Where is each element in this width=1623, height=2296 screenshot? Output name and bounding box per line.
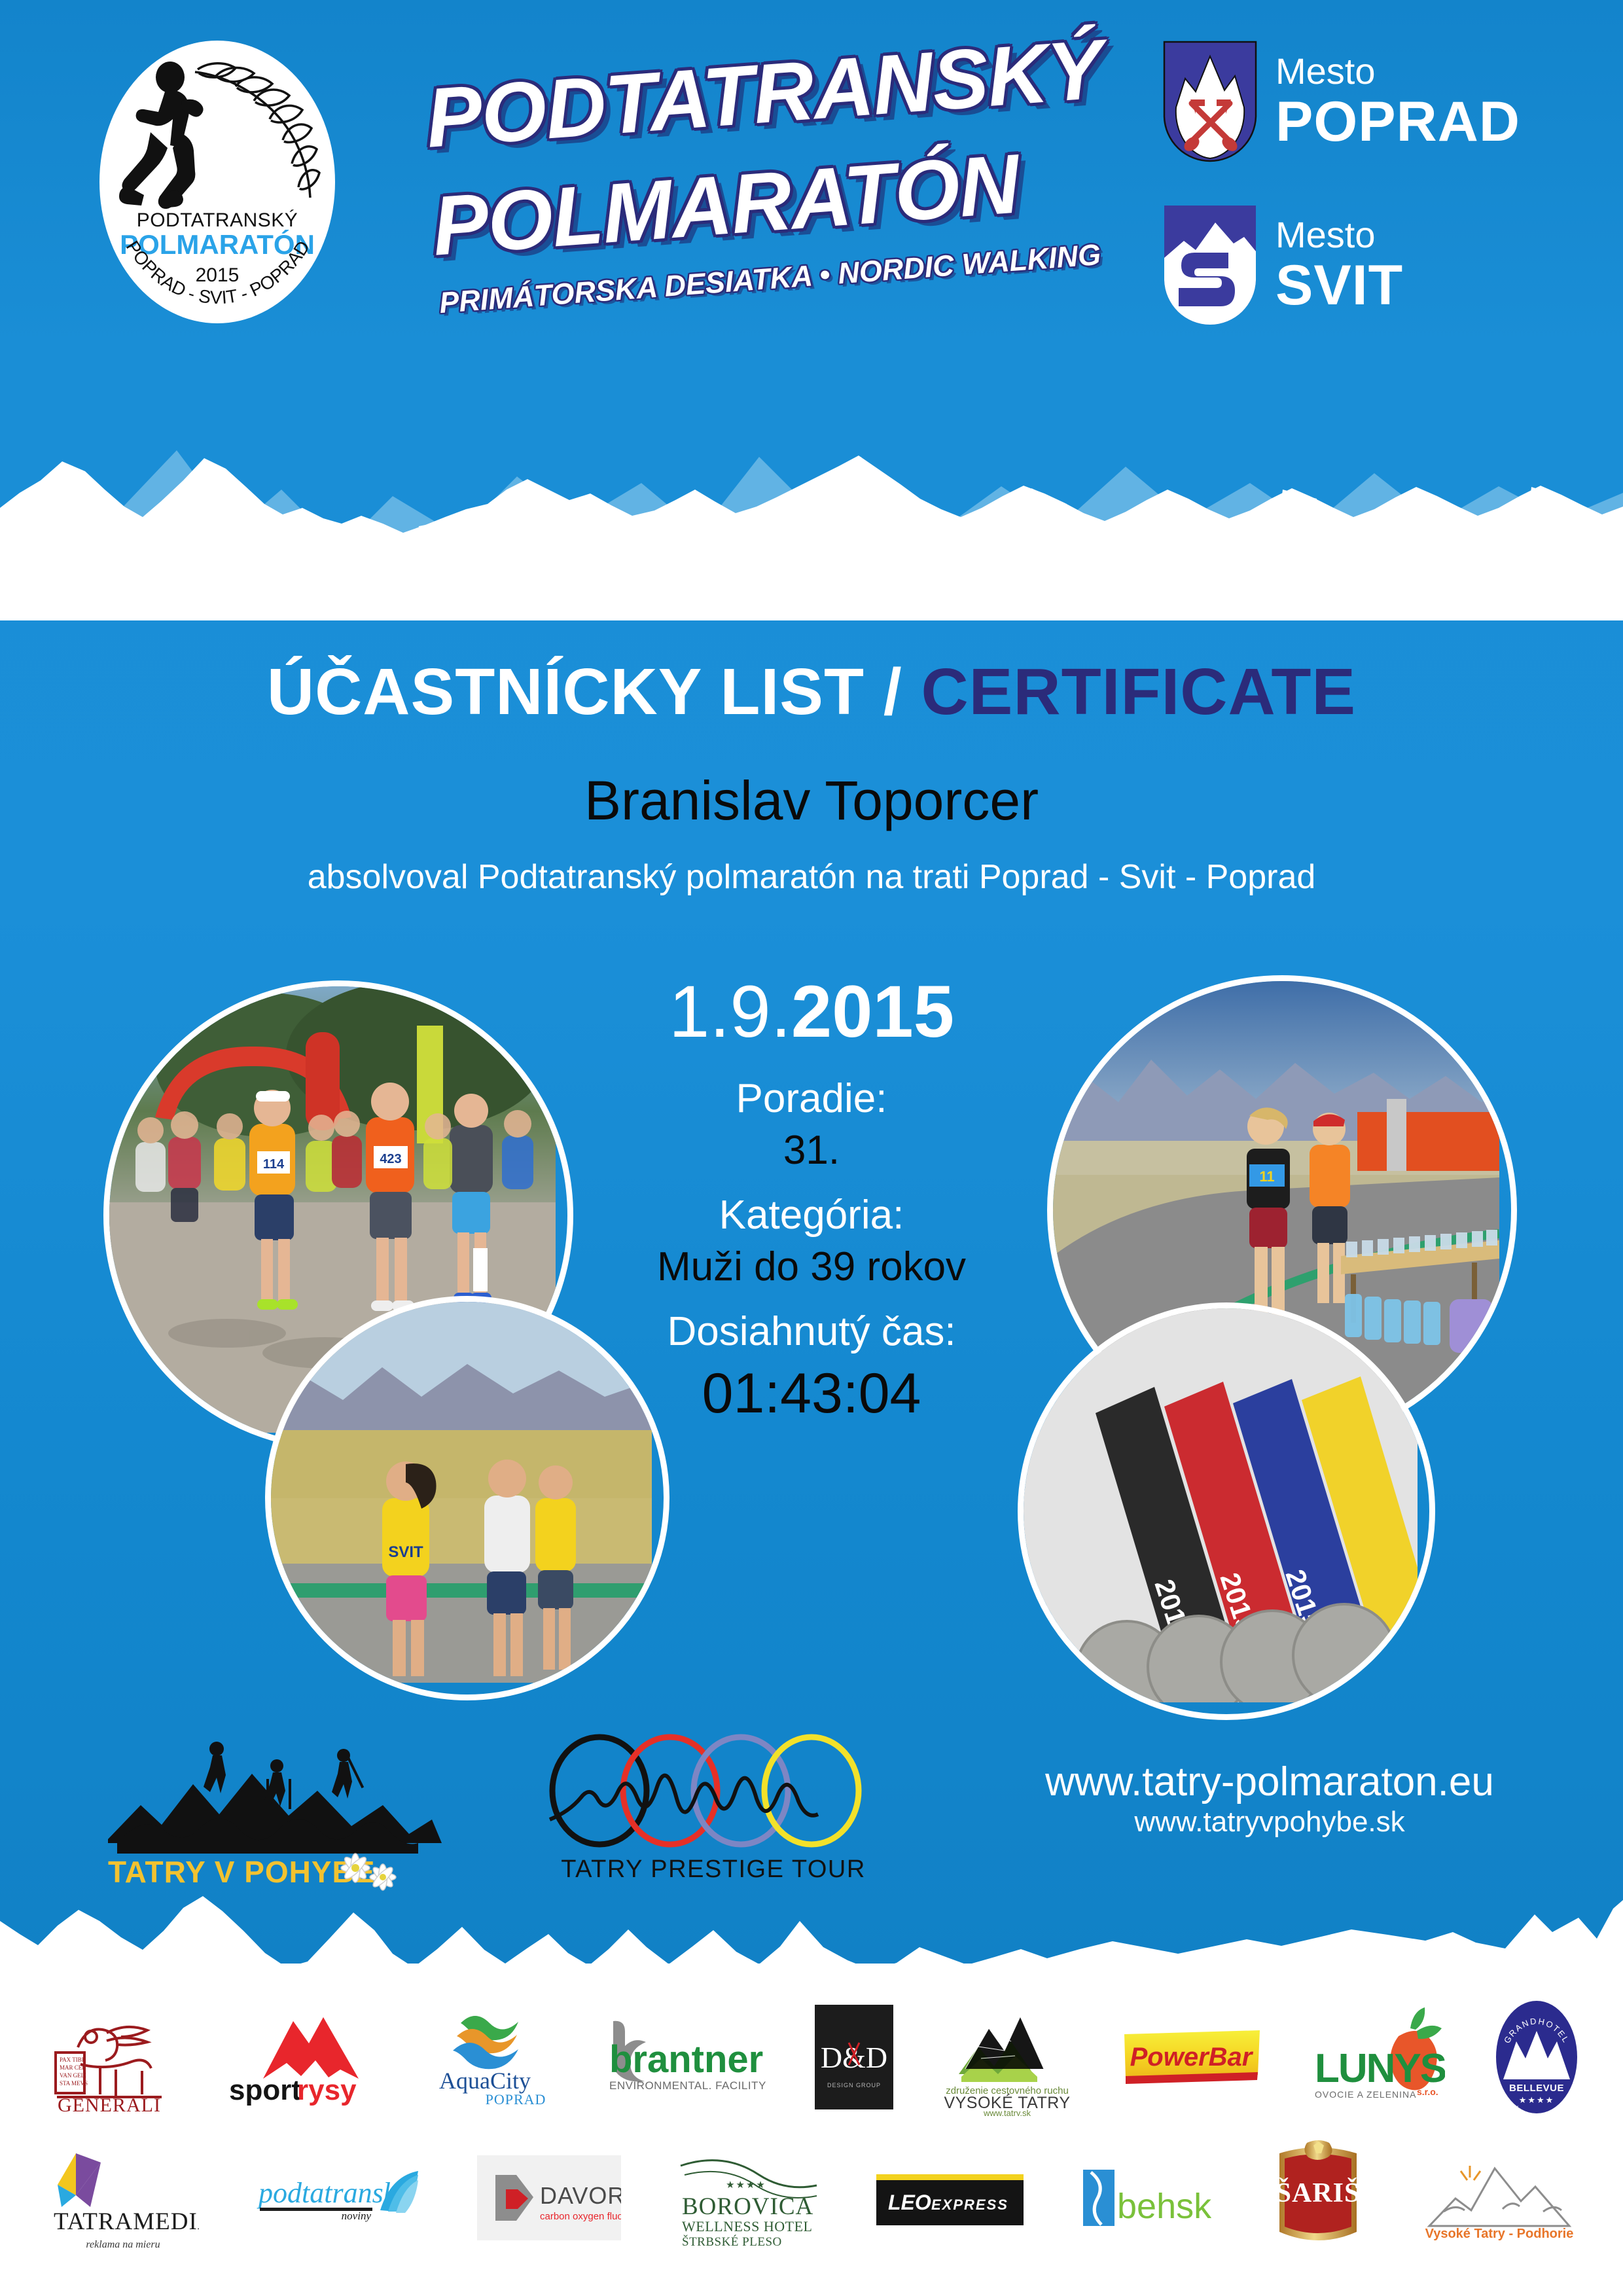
- results-panel: 1.9.2015 Poradie: 31. Kategória: Muži do…: [550, 975, 1073, 1426]
- saris-logo: ŠARIŠ: [1269, 2140, 1367, 2255]
- category-value: Muži do 39 rokov: [550, 1241, 1073, 1294]
- lunys-sro: s.r.o.: [1417, 2087, 1438, 2097]
- rank-label: Poradie:: [550, 1073, 1073, 1124]
- certificate-title: ÚČASTNÍCKY LIST / CERTIFICATE: [0, 655, 1623, 730]
- sponsor-generali: PAX TIBIMAR CEE VAN GELISTA MEVS GENERAL…: [44, 1986, 175, 2127]
- davorin-label: DAVORIN: [540, 2182, 621, 2209]
- powerbar-logo: PowerBar: [1122, 2028, 1262, 2087]
- participant-name: Branislav Toporcer: [0, 769, 1623, 833]
- svg-text:★★★★: ★★★★: [726, 2179, 766, 2191]
- sponsor-vysoke-tatry: združenie cestovného ruchu VYSOKÉ TATRY …: [942, 1986, 1073, 2127]
- davorin-logo: DAVORIN carbon oxygen fluorine: [477, 2155, 621, 2240]
- photo-medals-svg: 2015 2015 2015: [1024, 1308, 1418, 1702]
- bellevue-stars: ★★★★: [1518, 2095, 1554, 2105]
- sponsor-row-2: TATRAMEDIA reklama na mieru podtatranské…: [20, 2127, 1603, 2268]
- sponsor-saris: ŠARIŠ: [1269, 2127, 1367, 2268]
- race-date-daymonth: 1.9.: [669, 971, 791, 1052]
- behsk-label: behsk: [1117, 2187, 1211, 2226]
- vysoke-tatry-url: www.tatry.sk: [983, 2108, 1031, 2116]
- generali-label: GENERALI: [58, 2094, 161, 2113]
- sponsor-tatramedia: TATRAMEDIA reklama na mieru: [48, 2127, 199, 2268]
- vysoke-tatry-logo: združenie cestovného ruchu VYSOKÉ TATRY …: [942, 1998, 1073, 2116]
- sponsor-leo-express: LEO EXPRESS: [876, 2127, 1024, 2268]
- behsk-logo: behsk: [1080, 2162, 1211, 2234]
- tatramedia-logo: TATRAMEDIA reklama na mieru: [48, 2145, 199, 2250]
- sponsor-powerbar: PowerBar: [1122, 1986, 1262, 2127]
- svg-text:423: 423: [380, 1152, 401, 1166]
- sponsor-bar: PAX TIBIMAR CEE VAN GELISTA MEVS GENERAL…: [0, 1986, 1623, 2294]
- svg-text:rysy: rysy: [297, 2074, 357, 2106]
- borovica-sub2: ŠTRBSKÉ PLESO: [682, 2234, 782, 2247]
- brantner-sub: ENVIRONMENTAL. FACILITY SERVICES: [609, 2079, 766, 2092]
- poster-header: PODTATRANSKÝ POLMARATÓN 2015 POPRAD - SV…: [0, 0, 1623, 359]
- certificate-title-en: CERTIFICATE: [921, 655, 1356, 728]
- brantner-logo: brantner ENVIRONMENTAL. FACILITY SERVICE…: [603, 2015, 766, 2100]
- powerbar-label: PowerBar: [1130, 2043, 1253, 2072]
- sponsor-dd: D&D DESIGN GROUP: [815, 1986, 893, 2127]
- tatry-v-pohybe-svg: TATRY V POHYBE: [101, 1728, 468, 1892]
- event-title-block: PODTATRANSKÝ POLMARATÓN PRIMÁTORSKA DESI…: [419, 46, 1126, 321]
- sponsor-row-1: PAX TIBIMAR CEE VAN GELISTA MEVS GENERAL…: [20, 1986, 1603, 2127]
- sponsor-behsk: behsk: [1080, 2127, 1211, 2268]
- certificate-title-sk: ÚČASTNÍCKY LIST: [267, 655, 865, 728]
- time-value: 01:43:04: [550, 1361, 1073, 1426]
- tatry-prestige-tour-label: TATRY PRESTIGE TOUR: [561, 1856, 866, 1883]
- badge-year: 2015: [196, 264, 240, 286]
- svg-text:EXPRESS: EXPRESS: [931, 2197, 1008, 2213]
- sponsor-bellevue: GRANDHOTEL BELLEVUE ★★★★ Vysoké Tatry: [1494, 1986, 1579, 2127]
- svg-text:PAX TIBI: PAX TIBI: [60, 2056, 84, 2063]
- category-label: Kategória:: [550, 1190, 1073, 1241]
- mountain-svg: [0, 359, 1623, 620]
- sportrysy-logo: sport rysy: [224, 2008, 368, 2106]
- poprad-prefix: Mesto: [1275, 53, 1520, 90]
- tatry-v-pohybe-label: TATRY V POHYBE: [108, 1855, 375, 1889]
- poprad-coat-of-arms-icon: [1162, 39, 1258, 164]
- sponsor-aquacity: AquaCity POPRAD: [416, 1986, 554, 2127]
- bellevue-logo: GRANDHOTEL BELLEVUE ★★★★ Vysoké Tatry: [1494, 1998, 1579, 2116]
- certificate-title-separator: /: [865, 655, 921, 728]
- brantner-label: brantner: [609, 2038, 763, 2081]
- svg-text:sport: sport: [229, 2074, 301, 2106]
- aquacity-sub: POPRAD: [486, 2091, 546, 2108]
- sponsor-podtatranske-noviny: podtatranské noviny: [256, 2127, 419, 2268]
- davorin-sub: carbon oxygen fluorine: [540, 2211, 621, 2222]
- lunys-label: LUNYS: [1315, 2046, 1445, 2091]
- borovica-logo: ★★★★ BOROVICA WELLNESS HOTEL ŠTRBSKÉ PLE…: [678, 2149, 819, 2247]
- svg-text:SVIT: SVIT: [388, 1543, 423, 1561]
- sponsor-davorin: DAVORIN carbon oxygen fluorine: [477, 2127, 621, 2268]
- tatry-prestige-tour-logo: TATRY PRESTIGE TOUR: [530, 1728, 897, 1892]
- partner-poprad: Mesto POPRAD: [1162, 39, 1520, 164]
- website-links: www.tatry-polmaraton.eu www.tatryvpohybe…: [949, 1761, 1590, 1840]
- svg-text:VAN GELI: VAN GELI: [60, 2072, 86, 2079]
- event-logo-svg: PODTATRANSKÝ POLMARATÓN 2015 POPRAD - SV…: [97, 38, 338, 326]
- svg-text:11: 11: [1259, 1168, 1274, 1185]
- sponsor-vysoke-tatry-podhorie: Vysoké Tatry - Podhorie: [1424, 2127, 1575, 2268]
- podtatranske-sub: noviny: [342, 2210, 372, 2222]
- saris-label: ŠARIŠ: [1275, 2177, 1360, 2208]
- svg-text:BELLEVUE: BELLEVUE: [1509, 2083, 1564, 2094]
- poprad-city: POPRAD: [1275, 94, 1520, 150]
- svg-text:STA MEVS: STA MEVS: [60, 2080, 88, 2087]
- tatramedia-label: TATRAMEDIA: [54, 2208, 199, 2235]
- event-logo-badge: PODTATRANSKÝ POLMARATÓN 2015 POPRAD - SV…: [97, 38, 338, 326]
- sponsor-brantner: brantner ENVIRONMENTAL. FACILITY SERVICE…: [603, 1986, 766, 2127]
- mountain-band-decoration: [0, 359, 1623, 620]
- borovica-label: BOROVICA: [682, 2193, 813, 2220]
- rank-value: 31.: [550, 1124, 1073, 1177]
- leo-express-logo: LEO EXPRESS: [876, 2166, 1024, 2229]
- photo-medals: 2015 2015 2015: [1018, 1302, 1435, 1720]
- tatry-prestige-tour-svg: TATRY PRESTIGE TOUR: [530, 1728, 897, 1892]
- dd-label: D&D: [821, 2041, 887, 2074]
- podtatranske-noviny-logo: podtatranské noviny: [256, 2162, 419, 2234]
- time-label: Dosiahnutý čas:: [550, 1306, 1073, 1357]
- svit-coat-of-arms-icon: [1162, 203, 1258, 327]
- race-date: 1.9.2015: [550, 975, 1073, 1049]
- svg-text:LEO: LEO: [888, 2191, 931, 2214]
- borovica-sub: WELLNESS HOTEL: [682, 2218, 812, 2234]
- website-secondary[interactable]: www.tatryvpohybe.sk: [949, 1803, 1590, 1840]
- vysoke-tatry-podhorie-label: Vysoké Tatry - Podhorie: [1425, 2227, 1574, 2240]
- tatramedia-sub: reklama na mieru: [86, 2239, 160, 2250]
- race-date-year: 2015: [791, 971, 954, 1052]
- certificate-page: PODTATRANSKÝ POLMARATÓN 2015 POPRAD - SV…: [0, 0, 1623, 2296]
- sponsor-sportrysy: sport rysy: [224, 1986, 368, 2127]
- website-primary[interactable]: www.tatry-polmaraton.eu: [949, 1761, 1590, 1803]
- aquacity-logo: AquaCity POPRAD: [416, 2005, 554, 2109]
- partner-svit: Mesto SVIT: [1162, 203, 1403, 327]
- svg-text:MAR CEE: MAR CEE: [60, 2064, 86, 2071]
- generali-logo: PAX TIBIMAR CEE VAN GELISTA MEVS GENERAL…: [44, 2001, 175, 2113]
- svit-prefix: Mesto: [1275, 217, 1403, 253]
- dd-logo: D&D DESIGN GROUP: [815, 2005, 893, 2109]
- svit-city: SVIT: [1275, 257, 1403, 314]
- svg-text:114: 114: [263, 1157, 285, 1172]
- sponsor-borovica: ★★★★ BOROVICA WELLNESS HOTEL ŠTRBSKÉ PLE…: [678, 2127, 819, 2268]
- tatry-v-pohybe-logo: TATRY V POHYBE: [101, 1728, 468, 1892]
- sponsor-lunys: LUNYS OVOCIE A ZELENINA s.r.o.: [1311, 1986, 1445, 2127]
- lunys-logo: LUNYS OVOCIE A ZELENINA s.r.o.: [1311, 2005, 1445, 2109]
- vysoke-tatry-podhorie-logo: Vysoké Tatry - Podhorie: [1424, 2155, 1575, 2240]
- aquacity-label: AquaCity: [439, 2068, 531, 2094]
- badge-top-text: PODTATRANSKÝ: [137, 209, 298, 231]
- lunys-sub: OVOCIE A ZELENINA: [1315, 2089, 1417, 2100]
- certificate-statement: absolvoval Podtatranský polmaratón na tr…: [0, 857, 1623, 897]
- dd-sub: DESIGN GROUP: [827, 2082, 881, 2089]
